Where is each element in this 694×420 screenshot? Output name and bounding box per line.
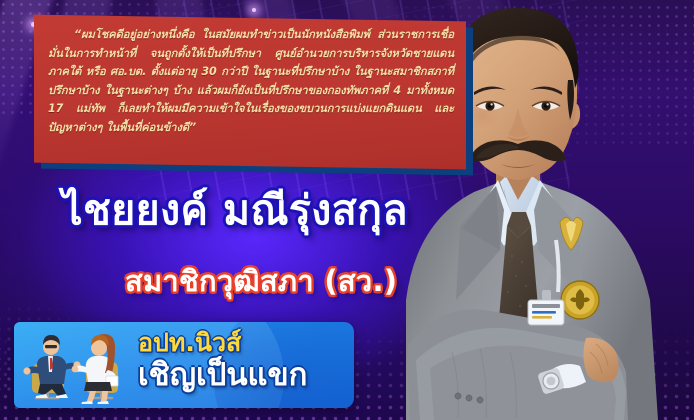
person-title: สมาชิกวุฒิสภา (สว.)	[125, 258, 485, 304]
logo-text-block: อปท.นิวส์ เชิญเป็นแขก	[138, 329, 307, 392]
logo-program-line: เชิญเป็นแขก	[138, 358, 307, 392]
title-card-canvas: “ผมโชคดีอยู่อย่างหนึ่งคือ ในสมัยผมทำข่าว…	[0, 0, 694, 420]
quote-text: “ผมโชคดีอยู่อย่างหนึ่งคือ ในสมัยผมทำข่าว…	[48, 26, 454, 138]
interview-illustration-icon	[20, 326, 138, 404]
person-name: ไชยยงค์ มณีรุ่งสกุล	[62, 178, 482, 243]
person-right	[72, 334, 118, 404]
background-glow-spot	[252, 8, 256, 12]
logo-brand-line: อปท.นิวส์	[138, 329, 307, 357]
person-left	[23, 335, 80, 398]
quote-card: “ผมโชคดีอยู่อย่างหนึ่งคือ ในสมัยผมทำข่าว…	[34, 15, 466, 170]
garuda-emblem	[561, 281, 599, 319]
program-logo[interactable]: อปท.นิวส์ เชิญเป็นแขก	[14, 322, 354, 408]
